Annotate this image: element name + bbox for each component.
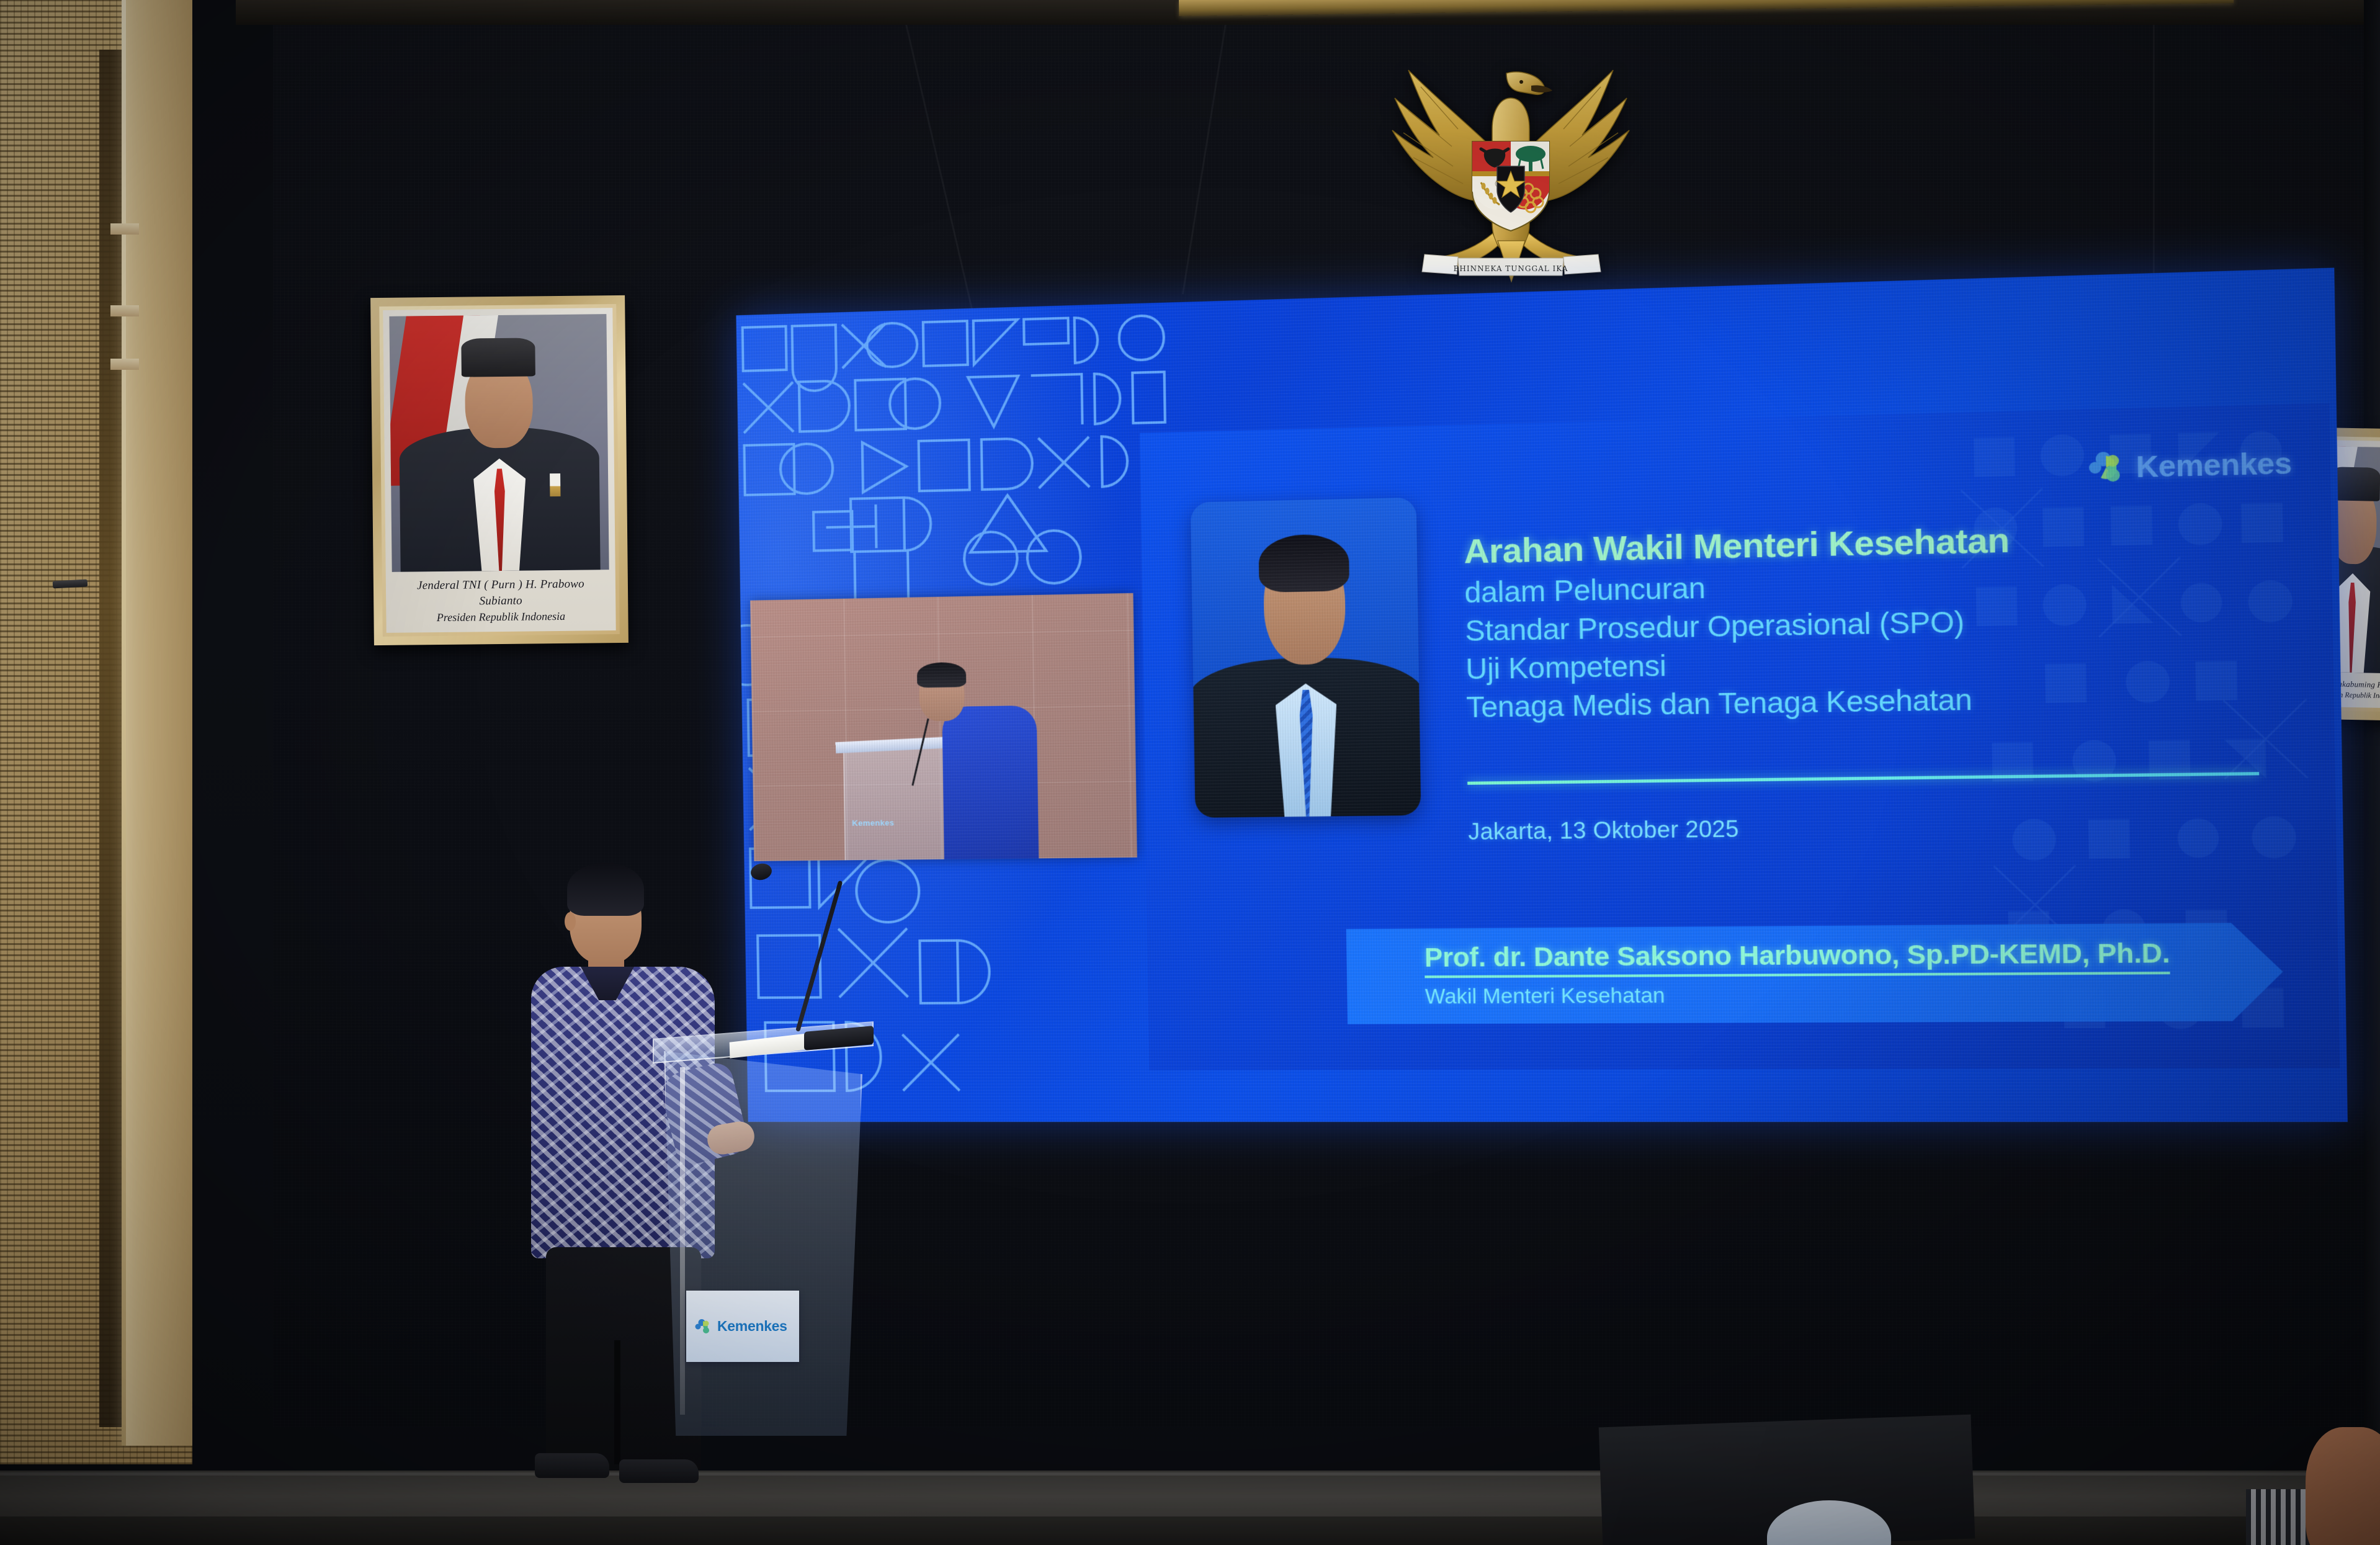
led-video-wall: Kemenkes (736, 267, 2347, 1122)
stage-edge-highlight (0, 1472, 2380, 1476)
lectern-glass-highlight (680, 1067, 685, 1415)
audience-head (2306, 1427, 2380, 1545)
slide-text-block: Arahan Wakil Menteri Kesehatan dalam Pel… (1464, 516, 2272, 727)
speaker-name: Prof. dr. Dante Saksono Harbuwono, Sp.PD… (1425, 938, 2170, 978)
photo-scene: BHINNEKA TUNGGAL IKA (0, 0, 2380, 1545)
speaker-shoe-left (535, 1453, 609, 1478)
slide-kemenkes-logo: Kemenkes (2085, 444, 2292, 488)
portrait-peci-cap (461, 338, 535, 377)
speaker-role: Wakil Menteri Kesehatan (1425, 980, 2284, 1009)
presentation-slide: Kemenkes Arahan Wakil Menteri Kesehatan … (1140, 403, 2340, 1070)
slide-date-place: Jakarta, 13 Oktober 2025 (1468, 816, 1739, 846)
kemenkes-flower-icon (694, 1317, 712, 1336)
lectern-body (664, 1051, 862, 1436)
svg-text:BHINNEKA TUNGGAL IKA: BHINNEKA TUNGGAL IKA (1454, 264, 1568, 273)
wall-recess-gap (99, 50, 122, 1427)
garuda-pancasila-emblem: BHINNEKA TUNGGAL IKA (1365, 36, 1657, 284)
shelf-ledge (110, 223, 139, 235)
wooden-pillar (124, 0, 192, 1446)
speaker-leg-split (614, 1340, 620, 1464)
pip-speaker-hair (917, 662, 967, 688)
acrylic-lectern: Kemenkes (658, 1030, 869, 1492)
president-name: Jenderal TNI ( Purn ) H. Prabowo Subiant… (395, 576, 607, 611)
frame-mat: Jenderal TNI ( Purn ) H. Prabowo Subiant… (383, 308, 615, 633)
pip-speaker-body (942, 705, 1039, 861)
president-caption: Jenderal TNI ( Purn ) H. Prabowo Subiant… (392, 570, 610, 633)
frame-gold-inner: Jenderal TNI ( Purn ) H. Prabowo Subiant… (379, 304, 620, 637)
president-title: Presiden Republik Indonesia (395, 608, 607, 625)
president-photo (389, 314, 609, 572)
speaker-name-banner: Prof. dr. Dante Saksono Harbuwono, Sp.PD… (1346, 923, 2284, 1024)
lectern-kemenkes-plaque: Kemenkes (686, 1291, 799, 1362)
right-wall-edge (2364, 0, 2380, 1489)
live-camera-feed: Kemenkes (750, 593, 1137, 861)
speaker-hair (567, 862, 644, 916)
pip-lectern (843, 744, 952, 861)
stage-front-panel (0, 1516, 2380, 1545)
vm-hair (1258, 534, 1349, 593)
light-strip (122, 0, 126, 1446)
door-handle[interactable] (53, 580, 88, 589)
lectern-plaque-text: Kemenkes (717, 1318, 787, 1335)
audience-shoulder (2246, 1489, 2314, 1545)
kemenkes-wordmark: Kemenkes (2136, 446, 2292, 485)
kemenkes-flower-icon (2085, 447, 2127, 488)
shelf-ledge (110, 305, 139, 316)
vice-minister-photo (1191, 498, 1421, 818)
pip-kemenkes-label: Kemenkes (852, 818, 894, 828)
portrait-medal (550, 473, 561, 496)
president-portrait-frame: Jenderal TNI ( Purn ) H. Prabowo Subiant… (370, 295, 629, 645)
speaker-ear (565, 912, 576, 931)
shelf-ledge (110, 359, 139, 370)
